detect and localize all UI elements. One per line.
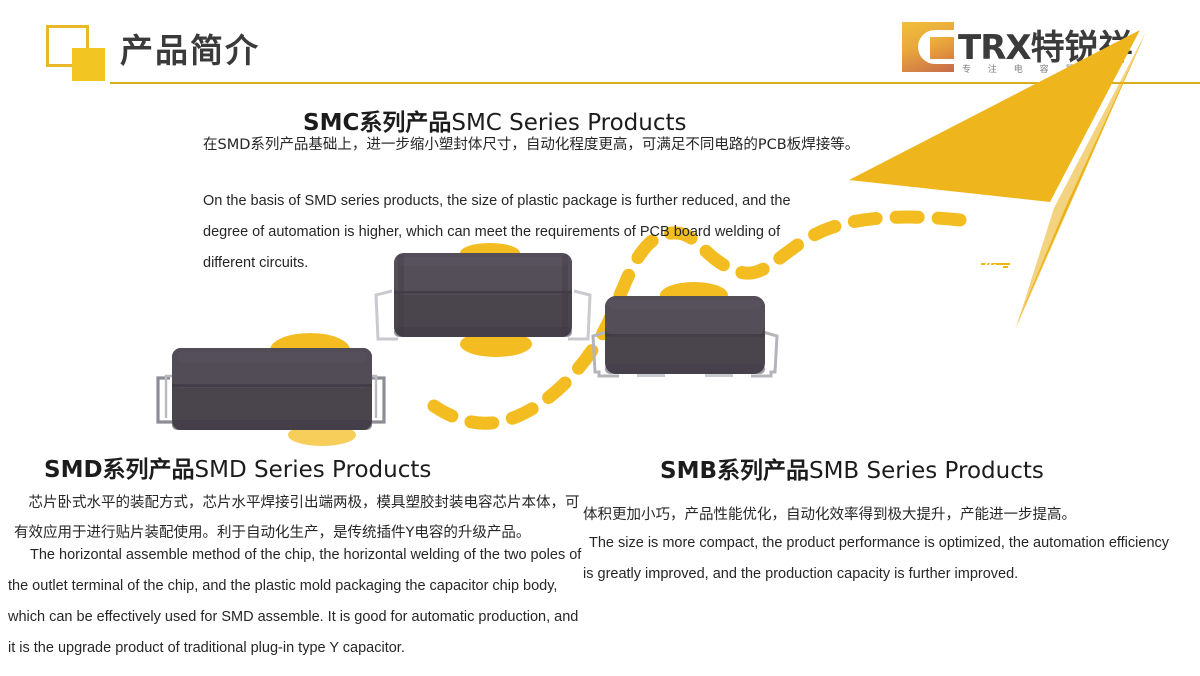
slide-canvas: 产品简介 TRX特锐祥 专 注 电 容 器 年 <box>0 0 1200 676</box>
smc-body-cn: 在SMD系列产品基础上，进一步缩小塑封体尺寸，自动化程度更高，可满足不同电路的P… <box>203 130 863 160</box>
page-title: 产品简介 <box>120 24 260 72</box>
smd-heading: SMD系列产品SMD Series Products <box>44 450 431 484</box>
square-filled-icon <box>72 48 105 81</box>
smb-heading-en: SMB Series Products <box>809 458 1044 484</box>
header-decoration <box>46 25 108 81</box>
smd-body-cn: 芯片卧式水平的装配方式，芯片水平焊接引出端两极，模具塑胶封装电容芯片本体，可有效… <box>14 488 584 548</box>
smd-heading-cn: SMD系列产品 <box>44 457 195 483</box>
smc-body-en: On the basis of SMD series products, the… <box>203 186 823 279</box>
smb-body-en: The size is more compact, the product pe… <box>583 528 1183 590</box>
smb-capacitor-component <box>585 292 785 384</box>
smb-heading: SMB系列产品SMB Series Products <box>660 451 1044 485</box>
smd-capacitor-component <box>150 340 395 440</box>
smd-body-en: The horizontal assemble method of the ch… <box>8 540 588 664</box>
smb-heading-cn: SMB系列产品 <box>660 458 809 484</box>
smb-body-cn: 体积更加小巧，产品性能优化，自动化效率得到极大提升，产能进一步提高。 <box>583 500 1193 530</box>
smd-heading-en: SMD Series Products <box>195 457 432 483</box>
